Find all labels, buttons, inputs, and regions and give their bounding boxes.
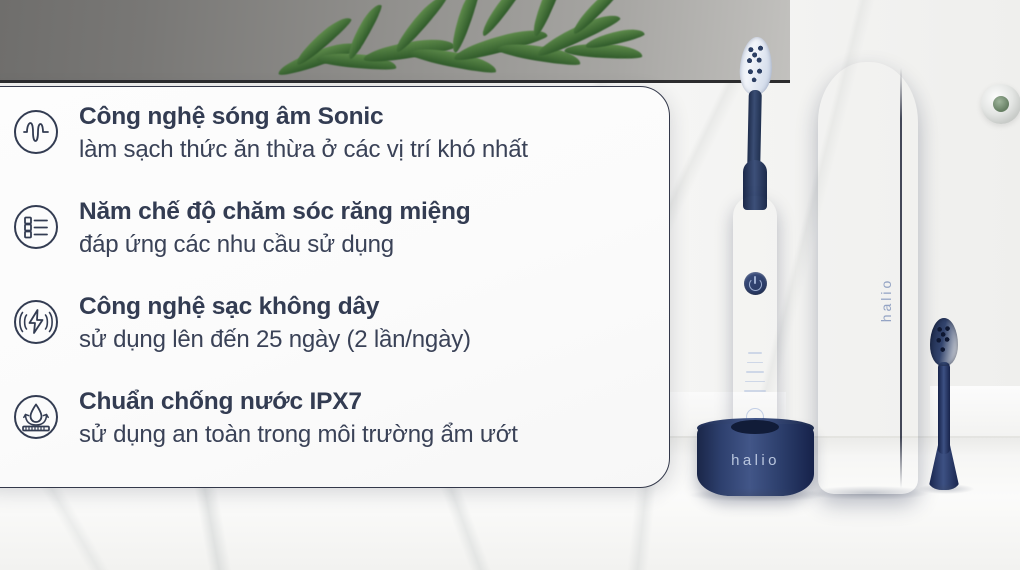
travel-case-seam (900, 68, 902, 488)
charging-base-slot (731, 420, 779, 434)
power-button-icon (744, 272, 767, 295)
sound-wave-icon (13, 109, 59, 155)
feature-title: Công nghệ sạc không dây (79, 293, 671, 322)
spare-brush-head-shadow (918, 484, 974, 494)
feature-title: Công nghệ sóng âm Sonic (79, 103, 671, 132)
travel-case-brand-label: halio (878, 270, 898, 330)
feature-title: Năm chế độ chăm sóc răng miệng (79, 198, 671, 227)
feature-description: sử dụng an toàn trong môi trường ẩm ướt (79, 420, 671, 449)
toothbrush-handle (733, 196, 777, 444)
spare-brush-head-neck (938, 362, 950, 454)
feature-item-modes: Năm chế độ chăm sóc răng miệng đáp ứng c… (1, 196, 671, 291)
product-feature-banner: halio halio Công nghệ s (0, 0, 1020, 570)
feature-item-waterproof: Chuẩn chống nước IPX7 sử dụng an toàn tr… (1, 386, 671, 481)
charging-base-brand-label: halio (697, 452, 814, 469)
feature-card: Công nghệ sóng âm Sonic làm sạch thức ăn… (0, 86, 670, 488)
checklist-icon (13, 204, 59, 250)
wireless-charging-icon (13, 299, 59, 345)
feature-title: Chuẩn chống nước IPX7 (79, 388, 671, 417)
toothbrush-neck (747, 90, 762, 170)
travel-case (818, 62, 918, 494)
feature-item-wireless-charging: Công nghệ sạc không dây sử dụng lên đến … (1, 291, 671, 386)
feature-description: đáp ứng các nhu cầu sử dụng (79, 230, 671, 259)
feature-item-sonic: Công nghệ sóng âm Sonic làm sạch thức ăn… (1, 101, 671, 196)
waterproof-droplet-icon (13, 394, 59, 440)
spare-brush-head-bristles (933, 321, 955, 363)
feature-description: sử dụng lên đến 25 ngày (2 lần/ngày) (79, 325, 671, 354)
faucet-knob-core (993, 96, 1009, 112)
feature-description: làm sạch thức ăn thừa ở các vị trí khó n… (79, 135, 671, 164)
charging-base-shadow (688, 488, 828, 502)
mode-indicator-lines (743, 352, 769, 402)
